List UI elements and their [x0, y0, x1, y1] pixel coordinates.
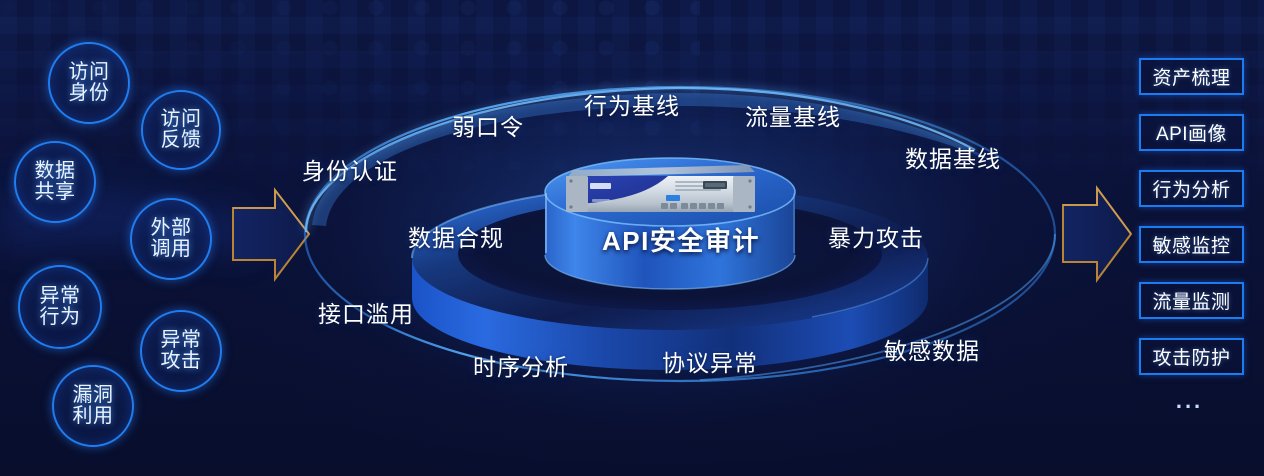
input-bubble-label: 漏洞利用: [73, 385, 114, 427]
input-bubble-label: 外部调用: [151, 218, 192, 260]
output-box-asset-inventory[interactable]: 资产梳理: [1139, 58, 1244, 95]
capability-label-sensitive-data: 敏感数据: [884, 332, 980, 366]
capability-label-data-compliance: 数据合规: [408, 219, 504, 253]
diagram-canvas: 访问身份访问反馈数据共享外部调用异常行为异常攻击漏洞利用 API安全审计 身份认…: [0, 0, 1264, 476]
bubble-line-1: 数据: [35, 161, 76, 182]
capability-label-data-baseline: 数据基线: [905, 140, 1001, 174]
outbound-arrow: [1063, 188, 1131, 280]
capability-label-protocol-anomaly: 协议异常: [662, 344, 758, 378]
input-bubble-label: 数据共享: [35, 161, 76, 203]
bubble-line-1: 异常: [40, 286, 81, 307]
bubble-line-1: 访问: [161, 109, 202, 130]
capability-label-interface-abuse: 接口滥用: [318, 295, 414, 329]
output-box-behavior-analysis[interactable]: 行为分析: [1139, 170, 1244, 207]
bubble-line-1: 漏洞: [73, 385, 114, 406]
bubble-line-1: 访问: [69, 62, 110, 83]
output-box-sensitive-monitoring[interactable]: 敏感监控: [1139, 226, 1244, 263]
bubble-line-2: 利用: [73, 406, 114, 427]
capability-label-behavior-baseline: 行为基线: [584, 87, 680, 121]
capability-label-weak-password: 弱口令: [452, 108, 524, 142]
input-bubble-abnormal-behavior[interactable]: 异常行为: [18, 265, 102, 349]
capability-label-traffic-baseline: 流量基线: [745, 98, 841, 132]
input-bubble-access-feedback[interactable]: 访问反馈: [141, 90, 221, 170]
capability-label-timing-analysis: 时序分析: [473, 348, 569, 382]
capability-label-brute-force: 暴力攻击: [828, 219, 924, 253]
bubble-line-2: 共享: [35, 182, 76, 203]
capability-label-identity-auth: 身份认证: [302, 152, 398, 186]
output-box-attack-protection[interactable]: 攻击防护: [1139, 338, 1244, 375]
input-bubble-label: 异常攻击: [161, 330, 202, 372]
output-box-api-profiling[interactable]: API画像: [1139, 114, 1244, 151]
input-bubble-data-sharing[interactable]: 数据共享: [14, 141, 96, 223]
input-bubble-abnormal-attack[interactable]: 异常攻击: [140, 310, 222, 392]
more-outputs-ellipsis: ...: [1139, 396, 1240, 406]
input-bubble-label: 访问身份: [69, 62, 110, 104]
bubble-line-1: 异常: [161, 330, 202, 351]
api-security-audit-appliance: [566, 165, 755, 212]
bubble-line-1: 外部: [151, 218, 192, 239]
core-label: API安全审计: [602, 221, 760, 258]
input-bubble-access-identity[interactable]: 访问身份: [48, 42, 130, 124]
bubble-line-2: 攻击: [161, 351, 202, 372]
input-bubble-label: 异常行为: [40, 286, 81, 328]
bubble-line-2: 调用: [151, 239, 192, 260]
bubble-line-2: 行为: [40, 307, 81, 328]
input-bubble-label: 访问反馈: [161, 109, 202, 151]
input-bubble-vulnerability-exploit[interactable]: 漏洞利用: [52, 365, 134, 447]
bubble-line-2: 身份: [69, 83, 110, 104]
bubble-line-2: 反馈: [161, 130, 202, 151]
input-bubble-external-call[interactable]: 外部调用: [130, 198, 212, 280]
output-box-traffic-monitoring[interactable]: 流量监测: [1139, 282, 1244, 319]
